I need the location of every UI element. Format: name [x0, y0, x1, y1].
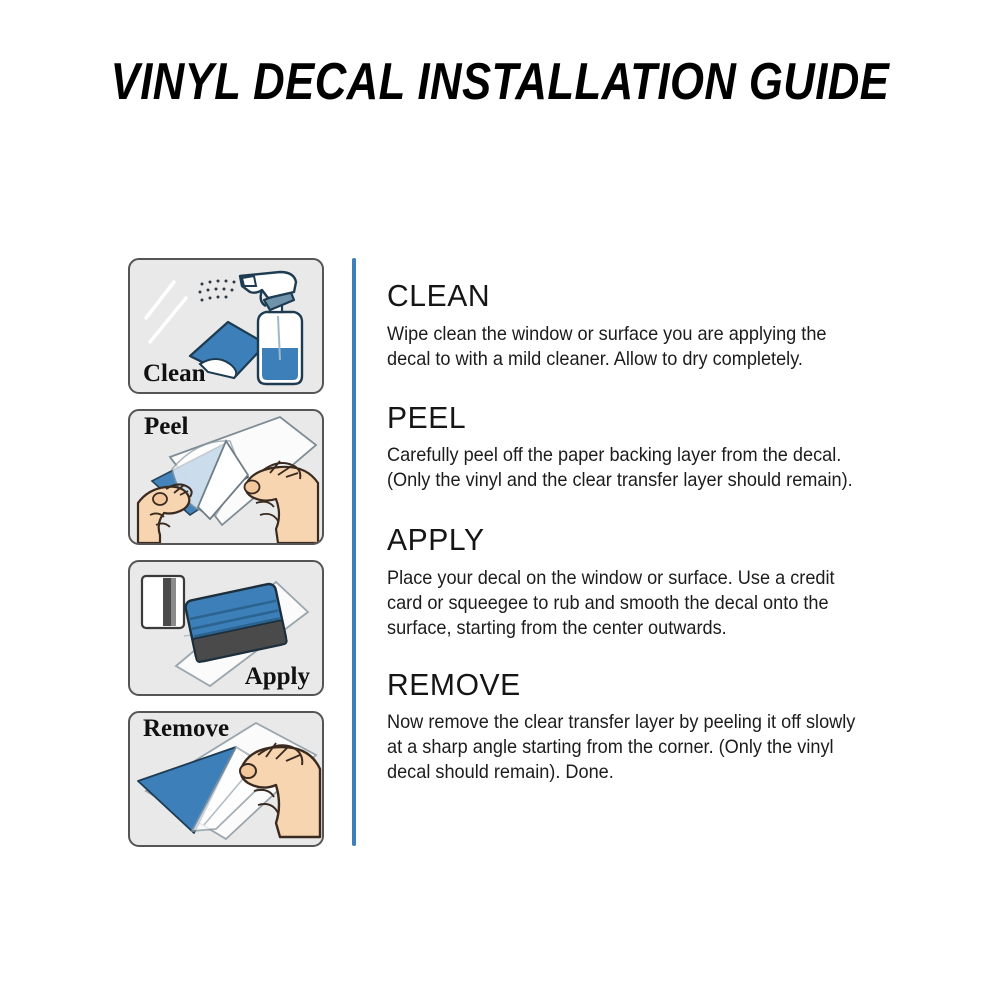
- step-heading-peel: PEEL: [387, 402, 896, 435]
- step-heading-clean: CLEAN: [387, 280, 896, 313]
- guide-content: Clean: [128, 258, 918, 858]
- step-heading-apply: APPLY: [387, 524, 896, 557]
- step-body-apply: Place your decal on the window or surfac…: [387, 566, 875, 641]
- panel-peel: Peel: [128, 409, 324, 545]
- panel-remove: Remove: [128, 711, 324, 847]
- panel-label-apply: Apply: [245, 663, 310, 691]
- instructions-column: CLEAN Wipe clean the window or surface y…: [387, 280, 912, 807]
- step-apply: APPLY Place your decal on the window or …: [387, 524, 912, 641]
- illustration-column: Clean: [128, 258, 324, 862]
- step-peel: PEEL Carefully peel off the paper backin…: [387, 402, 912, 494]
- vertical-divider: [352, 258, 356, 846]
- panel-apply: Apply: [128, 560, 324, 696]
- panel-label-peel: Peel: [144, 413, 188, 441]
- panel-label-clean: Clean: [143, 360, 206, 388]
- step-body-clean: Wipe clean the window or surface you are…: [387, 322, 875, 372]
- panel-clean: Clean: [128, 258, 324, 394]
- step-body-peel: Carefully peel off the paper backing lay…: [387, 443, 875, 493]
- page-title: VINYL DECAL INSTALLATION GUIDE: [80, 52, 920, 112]
- step-heading-remove: REMOVE: [387, 669, 896, 702]
- panel-label-remove: Remove: [143, 715, 229, 743]
- step-clean: CLEAN Wipe clean the window or surface y…: [387, 280, 912, 372]
- step-remove: REMOVE Now remove the clear transfer lay…: [387, 669, 912, 786]
- step-body-remove: Now remove the clear transfer layer by p…: [387, 710, 875, 785]
